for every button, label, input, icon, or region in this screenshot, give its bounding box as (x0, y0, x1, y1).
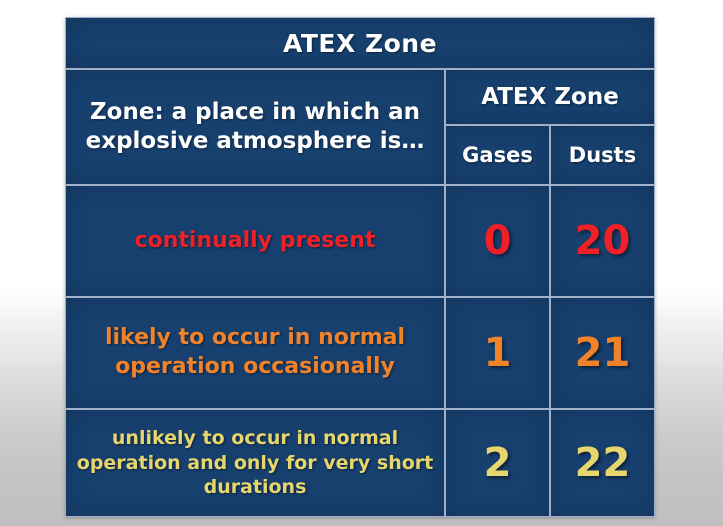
row-value-gases-label: 0 (484, 218, 512, 264)
row-value-dusts-zone22: 22 (550, 409, 655, 517)
atex-zone-table: ATEX Zone Zone: a place in which an expl… (65, 17, 655, 517)
atex-zone-header-label: ATEX Zone (481, 84, 619, 110)
row-value-dusts-label: 20 (575, 218, 631, 264)
row-description-continually-present: continually present (65, 185, 445, 297)
table-row: likely to occur in normal operation occa… (65, 297, 655, 409)
row-description-label: continually present (135, 228, 376, 253)
zone-definition-header-label: Zone: a place in which an explosive atmo… (86, 99, 425, 154)
zone-definition-header-cell: Zone: a place in which an explosive atmo… (65, 69, 445, 185)
row-value-dusts-label: 22 (575, 440, 631, 486)
row-value-gases-zone0: 0 (445, 185, 550, 297)
row-value-dusts-label: 21 (575, 330, 631, 376)
row-description-unlikely-to-occur: unlikely to occur in normal operation an… (65, 409, 445, 517)
column-header-gases: Gases (445, 125, 550, 185)
row-value-dusts-zone21: 21 (550, 297, 655, 409)
slide-canvas: ATEX Zone Zone: a place in which an expl… (0, 0, 723, 526)
column-header-dusts: Dusts (550, 125, 655, 185)
row-value-gases-zone1: 1 (445, 297, 550, 409)
table-row: continually present 0 20 (65, 185, 655, 297)
row-value-dusts-zone20: 20 (550, 185, 655, 297)
column-header-dusts-label: Dusts (569, 143, 636, 167)
table-title-cell: ATEX Zone (65, 17, 655, 69)
row-value-gases-zone2: 2 (445, 409, 550, 517)
row-description-label: likely to occur in normal operation occa… (105, 325, 405, 379)
row-value-gases-label: 1 (484, 330, 512, 376)
row-description-likely-to-occur: likely to occur in normal operation occa… (65, 297, 445, 409)
atex-zone-header-cell: ATEX Zone (445, 69, 655, 125)
column-header-gases-label: Gases (462, 143, 533, 167)
table-header-row: Zone: a place in which an explosive atmo… (65, 69, 655, 125)
table-title-row: ATEX Zone (65, 17, 655, 69)
row-description-label: unlikely to occur in normal operation an… (77, 427, 433, 498)
page-title: ATEX Zone (283, 29, 437, 58)
row-value-gases-label: 2 (484, 440, 512, 486)
table-row: unlikely to occur in normal operation an… (65, 409, 655, 517)
